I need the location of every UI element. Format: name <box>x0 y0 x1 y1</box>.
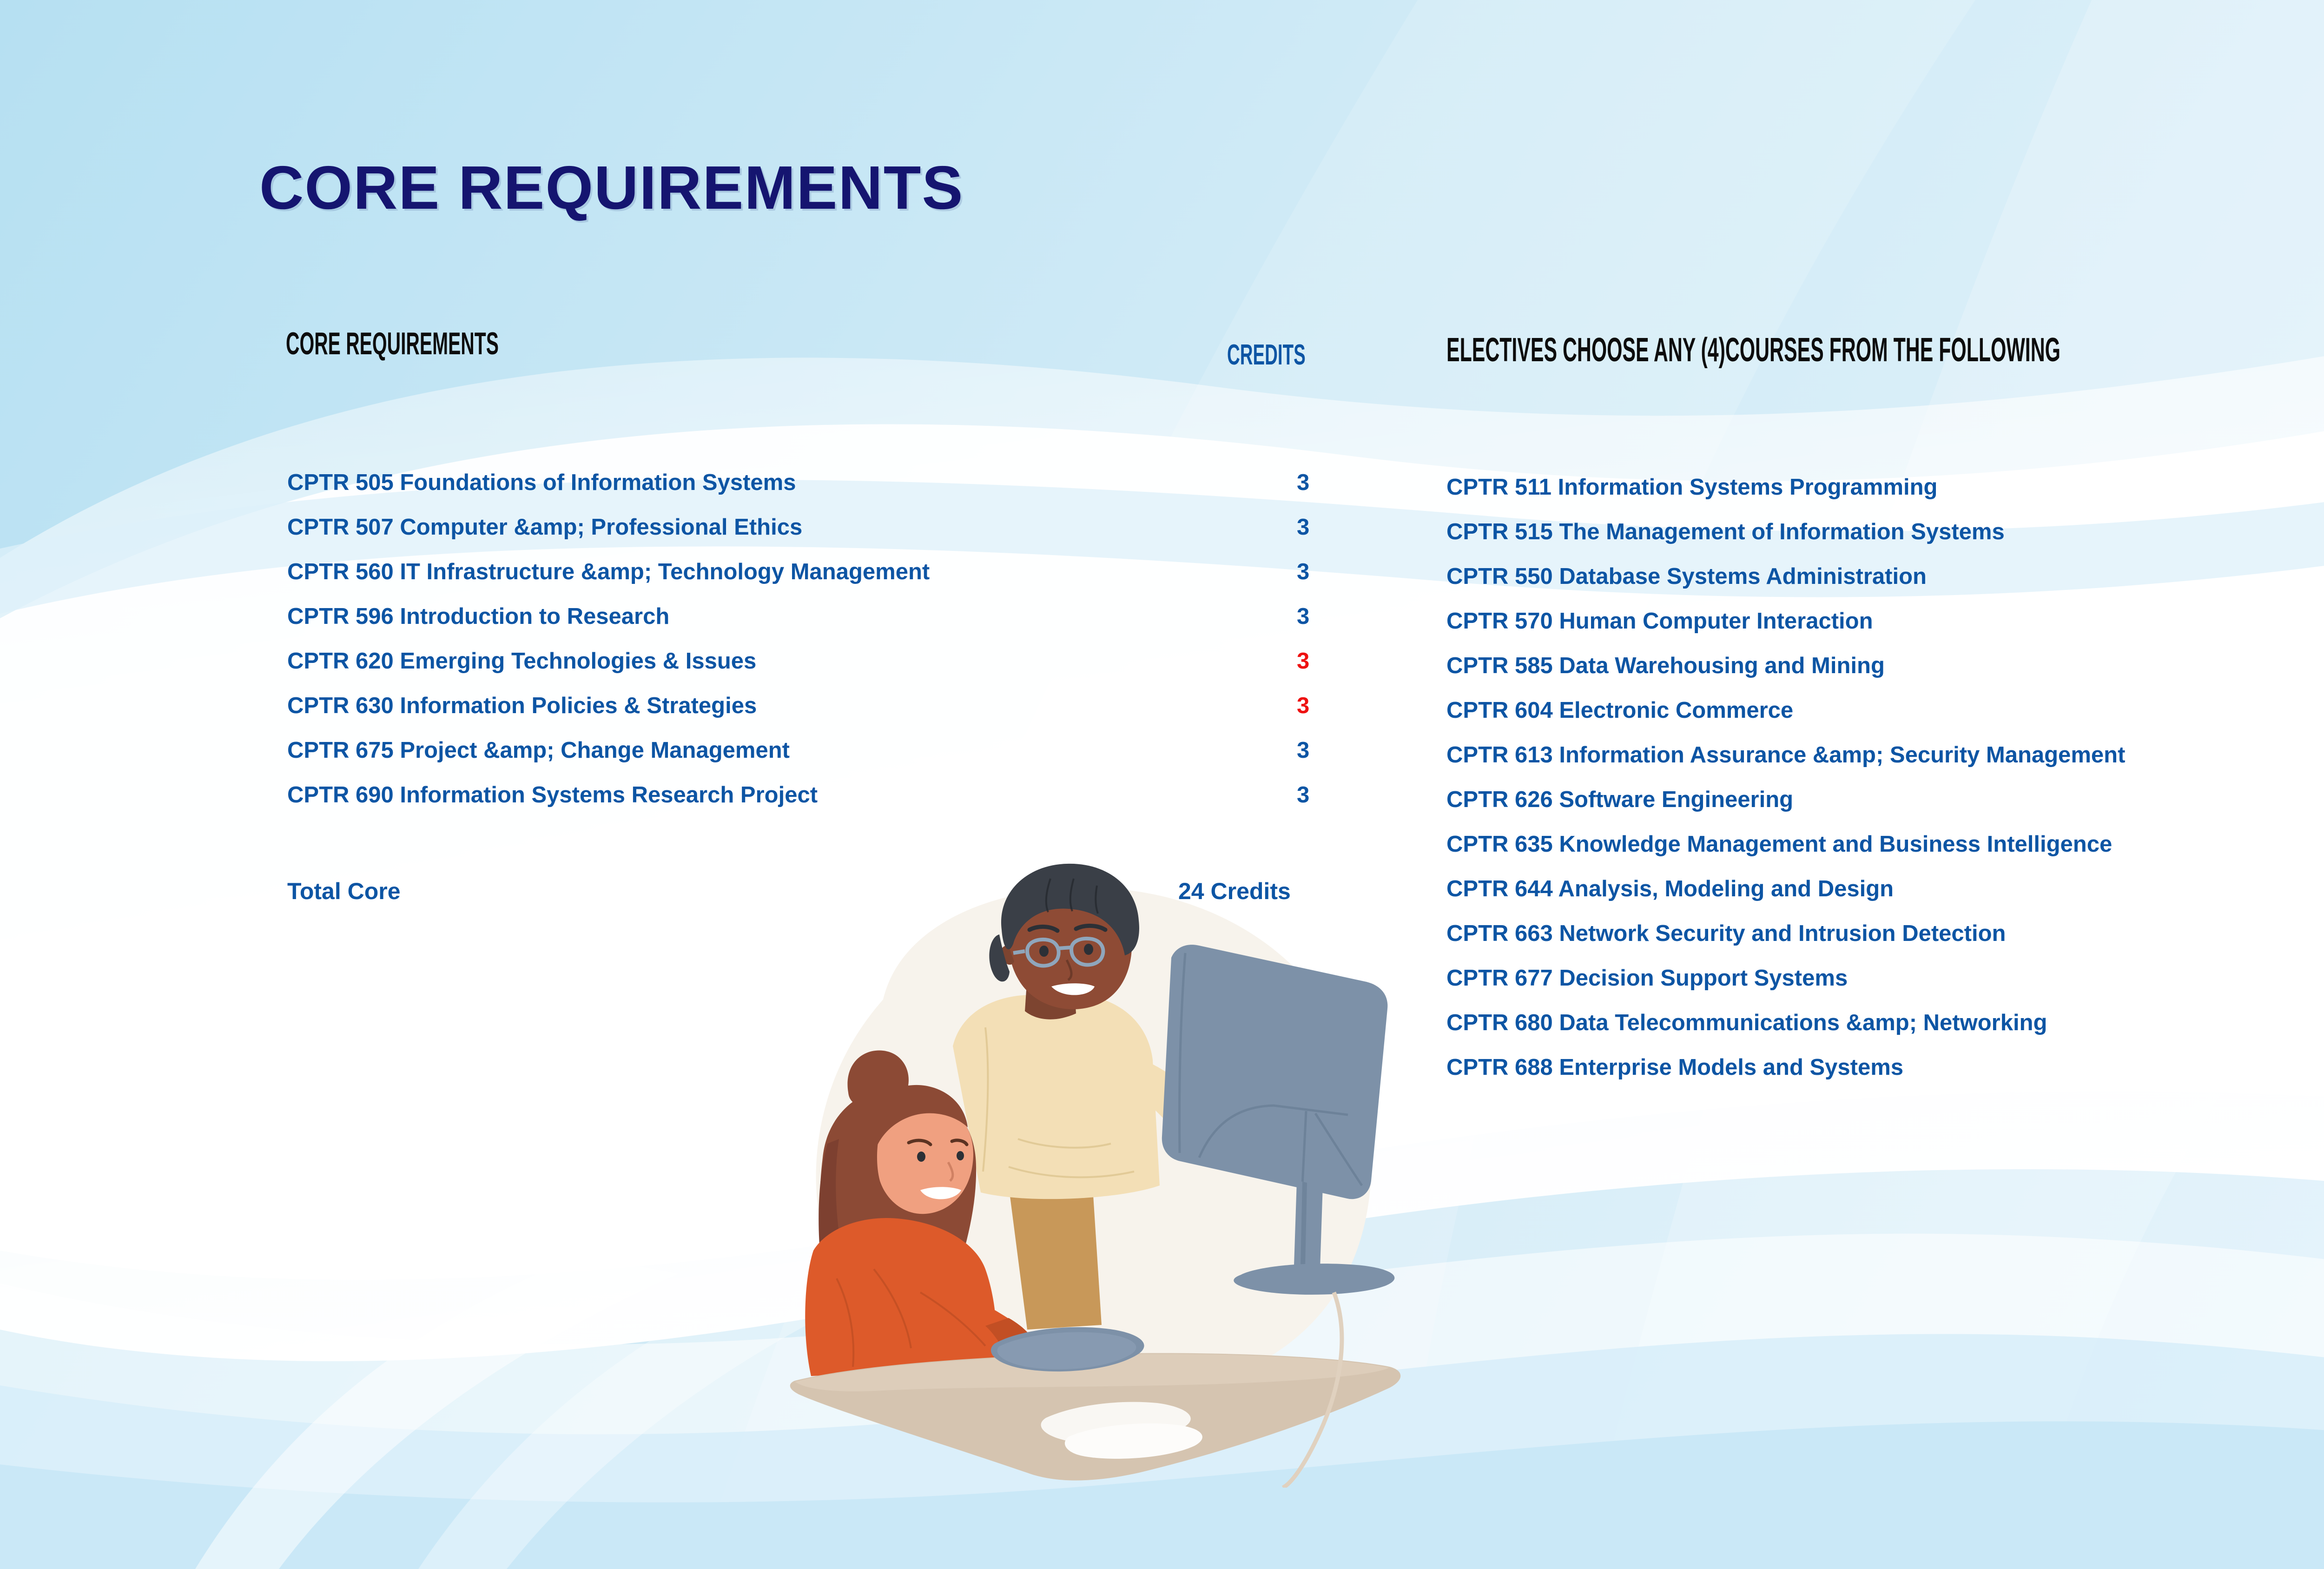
course-label: CPTR 677 Decision Support Systems <box>1446 965 1848 991</box>
course-label: CPTR 570 Human Computer Interaction <box>1446 608 1873 634</box>
course-credits: 3 <box>1297 470 1309 496</box>
course-label: CPTR 613 Information Assurance &amp; Sec… <box>1446 742 2125 768</box>
page-title: CORE REQUIREMENTS <box>259 152 964 223</box>
course-label: CPTR 511 Information Systems Programming <box>1446 474 1938 500</box>
course-label: CPTR 585 Data Warehousing and Mining <box>1446 653 1885 679</box>
two-people-at-computer-illustration <box>767 860 1418 1488</box>
course-credits: 3 <box>1297 603 1309 629</box>
course-label: CPTR 550 Database Systems Administration <box>1446 563 1927 589</box>
course-label: CPTR 675 Project &amp; Change Management <box>287 737 790 763</box>
course-credits: 3 <box>1297 648 1309 674</box>
course-credits: 3 <box>1297 782 1309 808</box>
credits-column-header: CREDITS <box>1227 338 1306 371</box>
course-label: CPTR 505 Foundations of Information Syst… <box>287 470 796 496</box>
course-label: CPTR 663 Network Security and Intrusion … <box>1446 920 2006 947</box>
core-column-header: CORE REQUIREMENTS <box>286 325 499 362</box>
course-label: CPTR 635 Knowledge Management and Busine… <box>1446 831 2112 857</box>
monitor-stand-neck <box>1294 1181 1323 1269</box>
course-credits: 3 <box>1297 514 1309 540</box>
course-credits: 3 <box>1297 559 1309 585</box>
course-label: CPTR 515 The Management of Information S… <box>1446 519 2005 545</box>
course-label: CPTR 630 Information Policies & Strategi… <box>287 693 757 719</box>
course-credits: 3 <box>1297 693 1309 719</box>
course-label: CPTR 688 Enterprise Models and Systems <box>1446 1054 1903 1080</box>
total-core-label: Total Core <box>287 878 401 905</box>
slide-canvas: CORE REQUIREMENTS CORE REQUIREMENTS CRED… <box>0 0 2324 1569</box>
course-label: CPTR 626 Software Engineering <box>1446 787 1793 813</box>
course-credits: 3 <box>1297 737 1309 763</box>
course-label: CPTR 604 Electronic Commerce <box>1446 697 1793 723</box>
electives-column-header: ELECTIVES CHOOSE ANY (4)COURSES FROM THE… <box>1446 331 2060 369</box>
course-label: CPTR 690 Information Systems Research Pr… <box>287 782 818 808</box>
course-label: CPTR 507 Computer &amp; Professional Eth… <box>287 514 802 540</box>
course-label: CPTR 596 Introduction to Research <box>287 603 669 629</box>
course-label: CPTR 620 Emerging Technologies & Issues <box>287 648 756 674</box>
course-label: CPTR 680 Data Telecommunications &amp; N… <box>1446 1010 2047 1036</box>
course-label: CPTR 644 Analysis, Modeling and Design <box>1446 876 1894 902</box>
course-label: CPTR 560 IT Infrastructure &amp; Technol… <box>287 559 930 585</box>
